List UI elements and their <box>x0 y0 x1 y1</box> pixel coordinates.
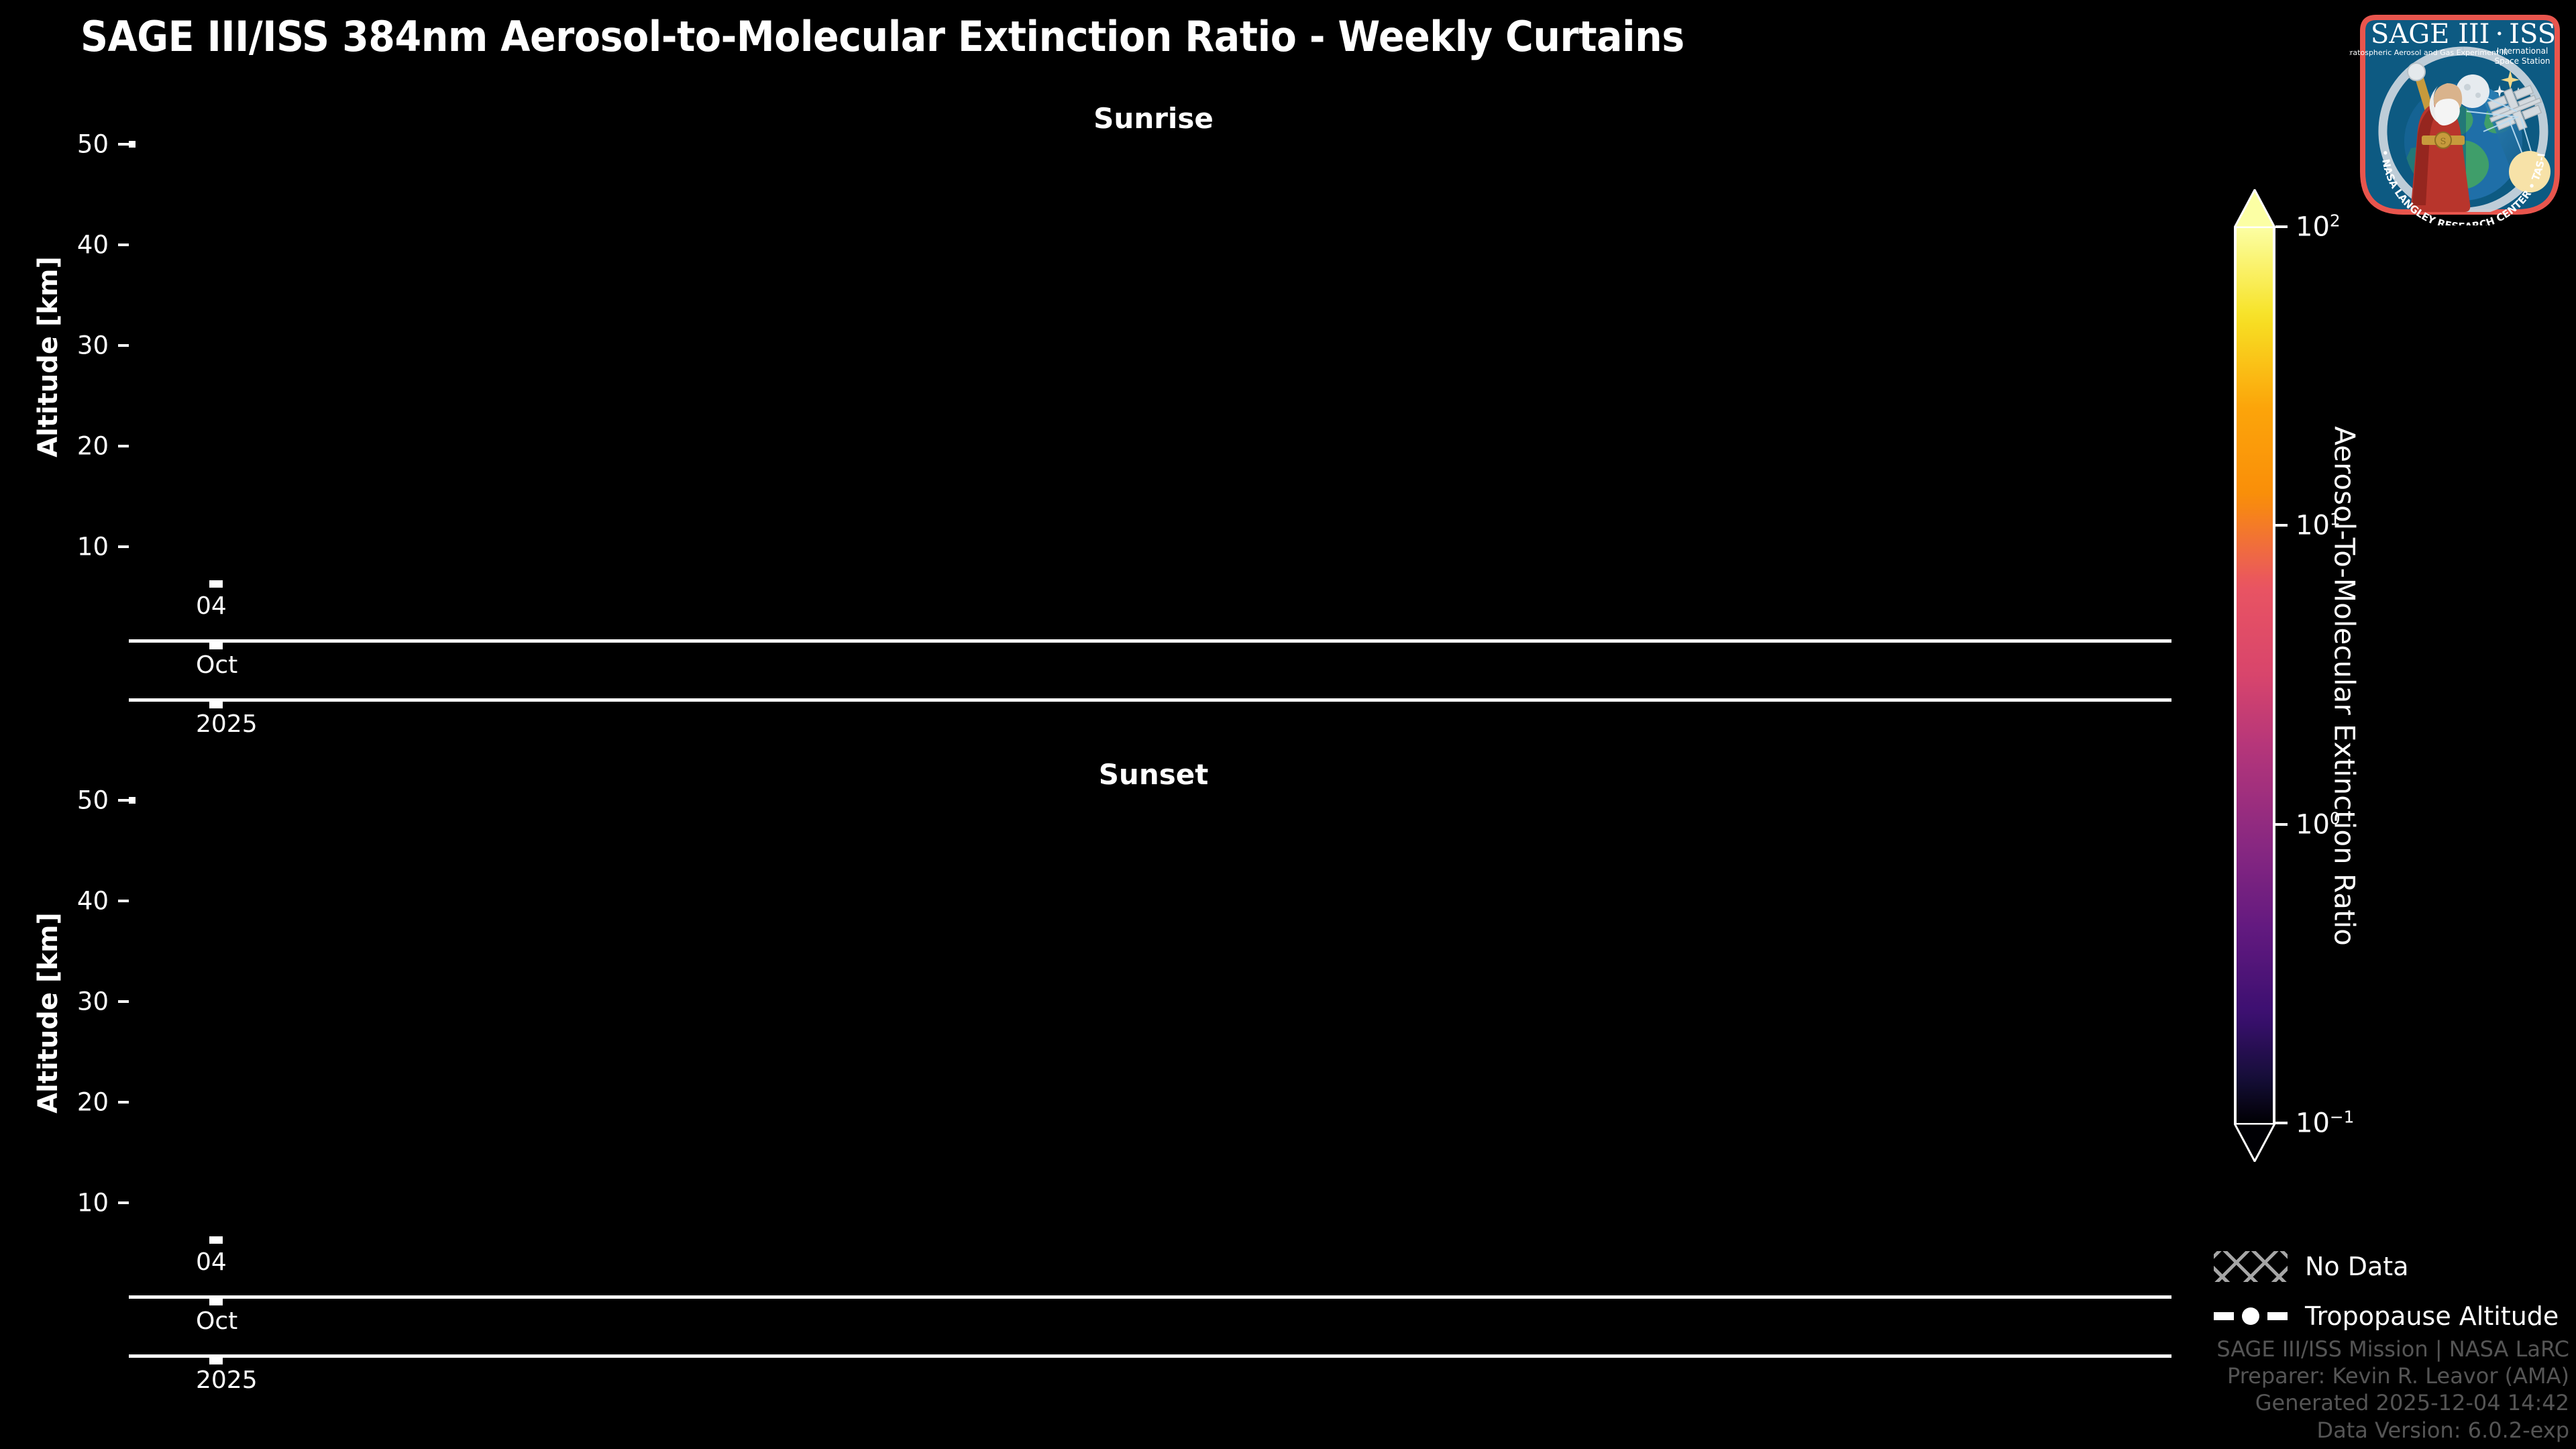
panel-sunset: Sunset 1020304050Altitude [km] 04Oct2025 <box>129 797 2178 1236</box>
panel-sunrise: Sunrise 1020304050Altitude [km] 04Oct202… <box>129 141 2178 580</box>
plot-area-sunrise[interactable] <box>129 141 136 148</box>
y-tick-mark-40 <box>118 244 129 246</box>
x-axis-level-line-month <box>129 639 2171 643</box>
x-axis-tick-day <box>209 580 223 588</box>
y-tick-label-50: 50 <box>35 130 109 159</box>
x-axis-tick-month <box>209 642 223 649</box>
y-axis-label: Altitude [km] <box>33 169 64 545</box>
y-tick-mark-20 <box>118 445 129 447</box>
x-axis-level-line-year <box>129 698 2171 702</box>
patch-subtitle-left: Stratospheric Aerosol and Gas Experiment… <box>2349 48 2508 57</box>
patch-subtitle-right-2: Space Station <box>2494 56 2550 66</box>
x-axis-tick-year <box>209 701 223 708</box>
x-axis-label-month: Oct <box>196 651 237 679</box>
x-axis-label-day: 04 <box>196 592 227 620</box>
y-tick-mark-10 <box>118 545 129 548</box>
plot-area-sunset[interactable] <box>129 797 136 804</box>
page-title: SAGE III/ISS 384nm Aerosol-to-Molecular … <box>80 12 1684 61</box>
y-tick-mark-50 <box>118 143 129 146</box>
panel-title-sunrise: Sunrise <box>129 102 2178 135</box>
tropopause-line-sunrise <box>132 144 136 148</box>
patch-subtitle-right-1: International <box>2497 46 2548 56</box>
patch-heading: SAGE III · ISS <box>2371 19 2556 50</box>
y-tick-mark-30 <box>118 344 129 347</box>
panel-title-sunset: Sunset <box>129 758 2178 791</box>
x-axis-label-year: 2025 <box>196 710 258 738</box>
